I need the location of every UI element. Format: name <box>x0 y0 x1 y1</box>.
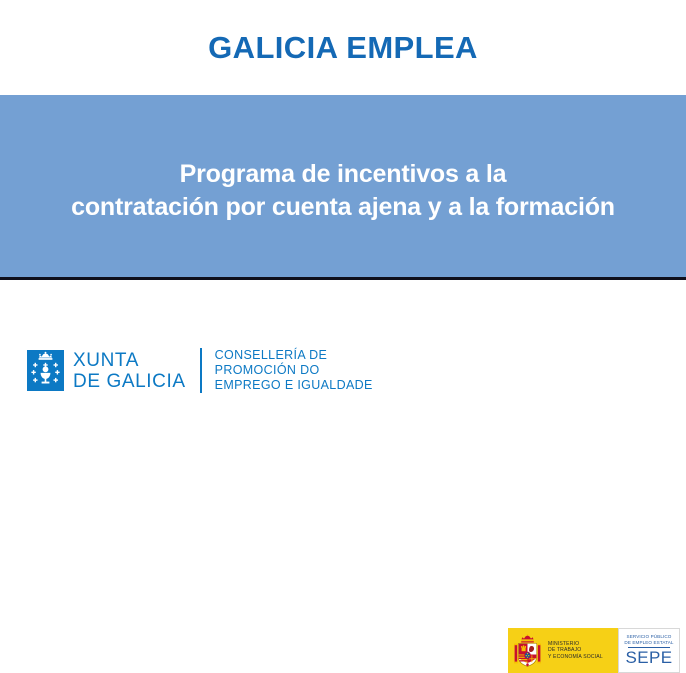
ministerio-text: MINISTERIO DE TRABAJO Y ECONOMÍA SOCIAL <box>548 641 603 660</box>
xunta-logo: XUNTA DE GALICIA <box>27 348 186 393</box>
banner-subtitle-line-1: Programa de incentivos a la <box>14 158 672 191</box>
ministerio-line-3: Y ECONOMÍA SOCIAL <box>548 654 603 660</box>
spain-coat-of-arms-icon <box>513 633 542 669</box>
footer: XUNTA DE GALICIA CONSELLERÍA DE PROMOCIÓ… <box>0 280 686 407</box>
government-logo-group: MINISTERIO DE TRABAJO Y ECONOMÍA SOCIAL … <box>508 628 680 673</box>
conselleria-line-2: PROMOCIÓN DO <box>215 363 373 378</box>
xunta-de-galicia-logo-group: XUNTA DE GALICIA CONSELLERÍA DE PROMOCIÓ… <box>27 348 373 393</box>
sepe-line-2: DE EMPLEO ESTATAL <box>624 640 673 646</box>
sepe-divider-rule <box>628 647 670 648</box>
logo-divider <box>200 348 202 393</box>
banner-text-block: Programa de incentivos a la contratación… <box>0 158 686 224</box>
page-title: GALICIA EMPLEA <box>208 30 478 66</box>
sepe-full-name: SERVICIO PÚBLICO DE EMPLEO ESTATAL <box>624 634 673 645</box>
xunta-wordmark-line-1: XUNTA <box>73 350 186 371</box>
banner-subtitle-line-2: contratación por cuenta ajena y a la for… <box>14 191 672 224</box>
xunta-wordmark-line-2: DE GALICIA <box>73 371 186 392</box>
program-banner: Programa de incentivos a la contratación… <box>0 95 686 280</box>
conselleria-line-1: CONSELLERÍA DE <box>215 348 373 363</box>
sepe-logo: SERVICIO PÚBLICO DE EMPLEO ESTATAL SEPE <box>618 628 680 673</box>
xunta-wordmark: XUNTA DE GALICIA <box>73 350 186 392</box>
conselleria-name: CONSELLERÍA DE PROMOCIÓN DO EMPREGO E IG… <box>215 348 373 393</box>
sepe-acronym: SEPE <box>626 649 673 667</box>
galicia-coat-of-arms-icon <box>27 350 64 391</box>
ministerio-logo: MINISTERIO DE TRABAJO Y ECONOMÍA SOCIAL <box>508 628 618 673</box>
header: GALICIA EMPLEA <box>0 0 686 95</box>
conselleria-line-3: EMPREGO E IGUALDADE <box>215 378 373 393</box>
